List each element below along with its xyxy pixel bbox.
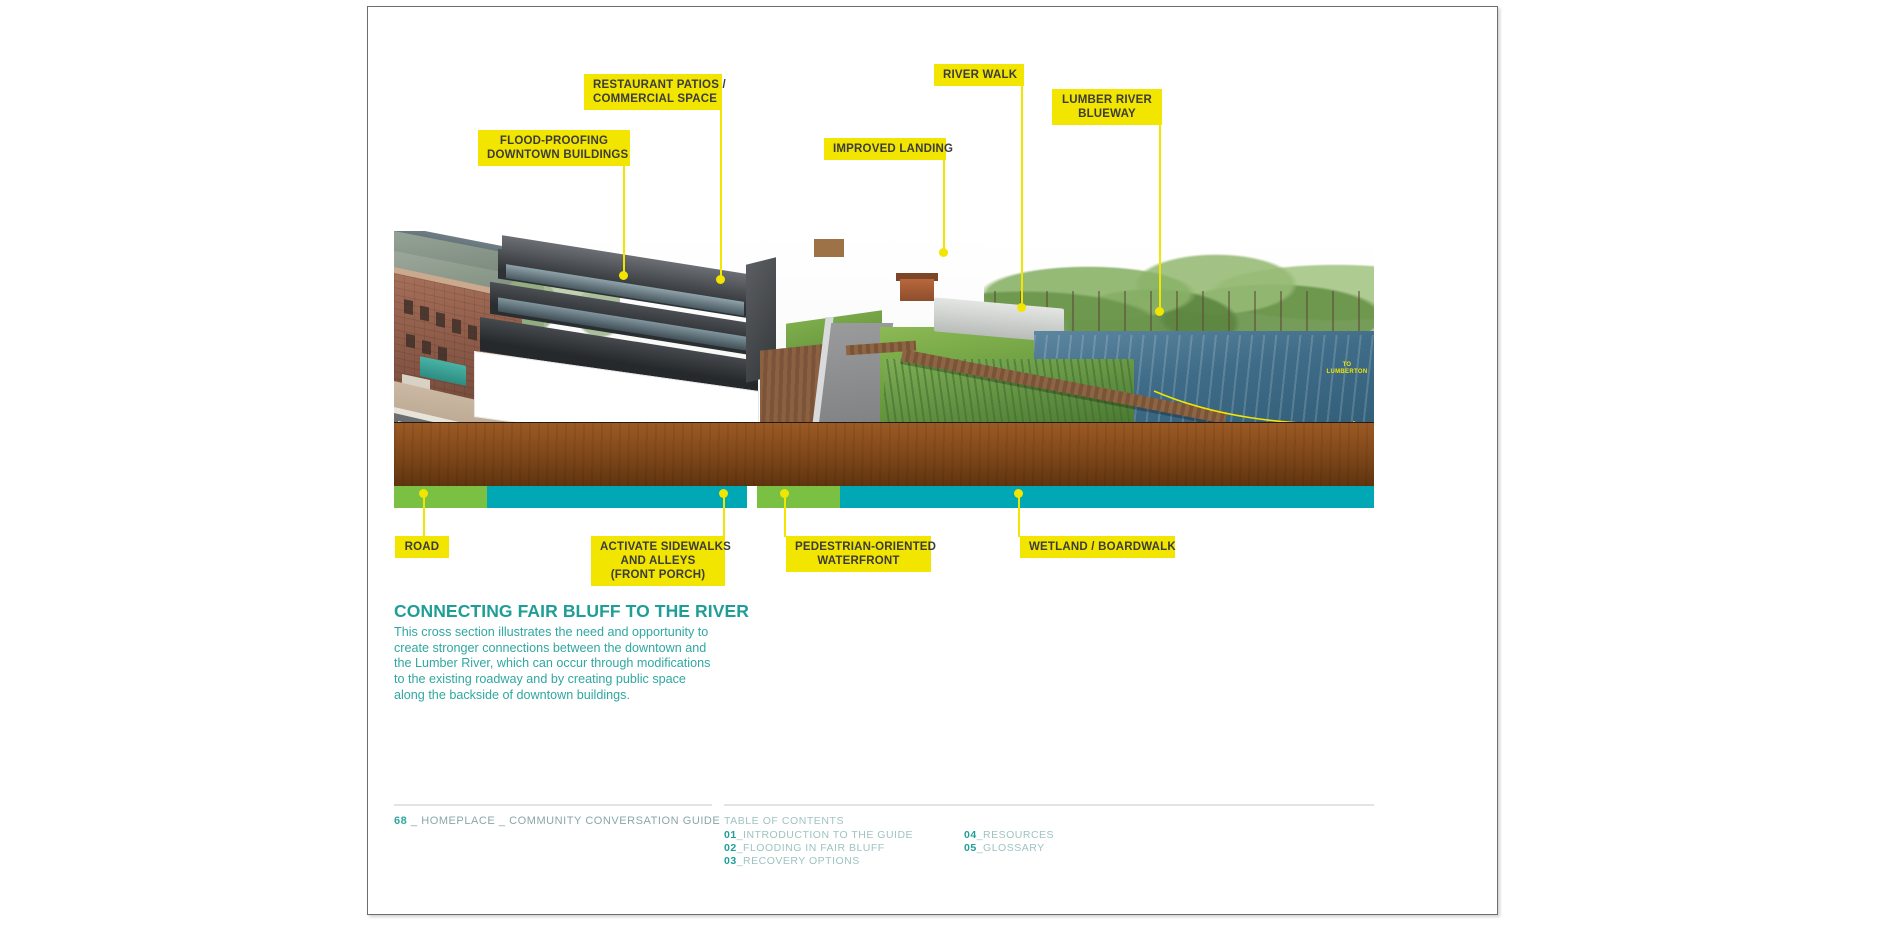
leader-dot-lumber-river-blueway	[1155, 307, 1164, 316]
legend-segment-road	[394, 486, 487, 508]
leader-flood-proofing	[623, 162, 625, 275]
callout-lumber-river-blueway: LUMBER RIVER BLUEWAY	[1052, 89, 1162, 125]
leader-wetland-boardwalk	[1018, 492, 1020, 537]
leader-river-walk	[1021, 86, 1023, 307]
to-lumberton-label: TO LUMBERTON	[1324, 362, 1370, 376]
soil-section-cut	[394, 423, 1374, 486]
callout-restaurant-patios: RESTAURANT PATIOS / COMMERCIAL SPACE	[584, 74, 722, 110]
toc-column-left: 01_INTRODUCTION TO THE GUIDE02_FLOODING …	[724, 829, 913, 867]
zone-legend-bar	[394, 486, 1374, 508]
callout-flood-proofing: FLOOD-PROOFING DOWNTOWN BUILDINGS	[478, 130, 630, 166]
leader-dot-restaurant-patios	[716, 275, 725, 284]
patio-kiosk	[814, 239, 844, 257]
legend-segment-gap	[747, 486, 757, 508]
toc-entry-label: _INTRODUCTION TO THE GUIDE	[737, 829, 913, 841]
legend-segment-downtown-sidewalks	[487, 486, 747, 508]
callout-wetland-boardwalk: WETLAND / BOARDWALK	[1020, 536, 1175, 558]
document-page: TO LUMBERTON RESTAURANT PATIOS / COMMERC…	[367, 6, 1498, 915]
leader-dot-improved-landing	[939, 248, 948, 257]
cross-section-rendering: TO LUMBERTON	[394, 231, 1374, 486]
section-body-text: This cross section illustrates the need …	[394, 625, 712, 704]
leader-dot-pedestrian-waterfront	[780, 489, 789, 498]
toc-entry[interactable]: 03_RECOVERY OPTIONS	[724, 855, 913, 868]
leader-dot-wetland-boardwalk	[1014, 489, 1023, 498]
leader-dot-flood-proofing	[619, 271, 628, 280]
toc-entry[interactable]: 04_RESOURCES	[964, 829, 1054, 842]
leader-dot-road	[419, 489, 428, 498]
legend-segment-wetland-boardwalk	[840, 486, 1374, 508]
callout-improved-landing: IMPROVED LANDING	[824, 138, 946, 160]
leader-restaurant-patios	[720, 106, 722, 279]
toc-entry-number: 04	[964, 829, 977, 841]
toc-entry[interactable]: 01_INTRODUCTION TO THE GUIDE	[724, 829, 913, 842]
callout-pedestrian-waterfront: PEDESTRIAN-ORIENTED WATERFRONT	[786, 536, 931, 572]
footer-breadcrumb-text: _ HOMEPLACE _ COMMUNITY CONVERSATION GUI…	[411, 815, 720, 827]
leader-activate-sidewalks	[723, 492, 725, 537]
leader-pedestrian-waterfront	[784, 492, 786, 537]
leader-improved-landing	[943, 160, 945, 252]
toc-entry-label: _GLOSSARY	[977, 842, 1045, 854]
footer-breadcrumb: 68 _ HOMEPLACE _ COMMUNITY CONVERSATION …	[394, 815, 720, 827]
footer-divider-right	[724, 804, 1374, 806]
toc-column-right: 04_RESOURCES05_GLOSSARY	[964, 829, 1054, 855]
toc-entry-number: 01	[724, 829, 737, 841]
callout-road: ROAD	[395, 536, 449, 558]
toc-entry-label: _FLOODING IN FAIR BLUFF	[737, 842, 885, 854]
toc-entry-label: _RECOVERY OPTIONS	[737, 855, 860, 867]
legend-segment-pedestrian-waterfront	[757, 486, 840, 508]
landing-shelter	[900, 279, 934, 301]
page-number: 68	[394, 815, 407, 827]
toc-entry[interactable]: 05_GLOSSARY	[964, 842, 1054, 855]
leader-lumber-river-blueway	[1159, 121, 1161, 311]
toc-entry-number: 02	[724, 842, 737, 854]
toc-title: TABLE OF CONTENTS	[724, 815, 844, 827]
leader-road	[423, 492, 425, 537]
callout-river-walk: RIVER WALK	[934, 64, 1024, 86]
callout-activate-sidewalks: ACTIVATE SIDEWALKS AND ALLEYS (FRONT POR…	[591, 536, 725, 586]
leader-dot-river-walk	[1017, 303, 1026, 312]
leader-dot-activate-sidewalks	[719, 489, 728, 498]
toc-entry-label: _RESOURCES	[977, 829, 1054, 841]
section-headline: CONNECTING FAIR BLUFF TO THE RIVER	[394, 601, 749, 622]
toc-entry[interactable]: 02_FLOODING IN FAIR BLUFF	[724, 842, 913, 855]
toc-entry-number: 05	[964, 842, 977, 854]
toc-entry-number: 03	[724, 855, 737, 867]
footer-divider-left	[394, 804, 712, 806]
to-lumberton-arrow-icon	[1154, 381, 1374, 427]
